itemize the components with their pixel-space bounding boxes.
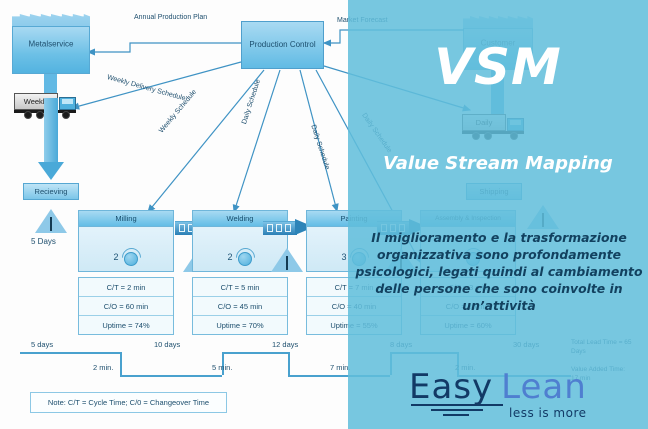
logo-tagline: less is more — [509, 406, 587, 420]
ladder-riser — [288, 352, 290, 375]
quote-text: Il miglioramento e la trasformazione org… — [351, 229, 647, 315]
legend-note: Note: C/T = Cycle Time; C/0 = Changeover… — [30, 392, 227, 413]
lead-time-1: 5 days — [31, 340, 53, 349]
logo-wordmark: EasyLean — [409, 370, 587, 404]
ladder-riser — [120, 352, 122, 375]
logo-underline — [431, 409, 483, 411]
logo-word-lean: Lean — [501, 367, 587, 407]
logo-underline — [411, 404, 503, 406]
page-title: VSM — [348, 42, 648, 92]
lead-time-3: 12 days — [272, 340, 298, 349]
value-time-2: 5 min. — [212, 363, 232, 372]
value-time-1: 2 min. — [93, 363, 113, 372]
logo-underline — [443, 414, 469, 416]
lead-time-2: 10 days — [154, 340, 180, 349]
page-subtitle: Value Stream Mapping — [348, 155, 648, 173]
lead-time-segment — [222, 352, 288, 354]
value-time-segment — [120, 375, 222, 377]
vsm-poster: Metalservice Customer Production Control… — [0, 0, 648, 429]
easy-lean-logo: EasyLean less is more — [409, 370, 599, 422]
lead-time-segment — [20, 352, 120, 354]
logo-word-easy: Easy — [409, 367, 493, 407]
